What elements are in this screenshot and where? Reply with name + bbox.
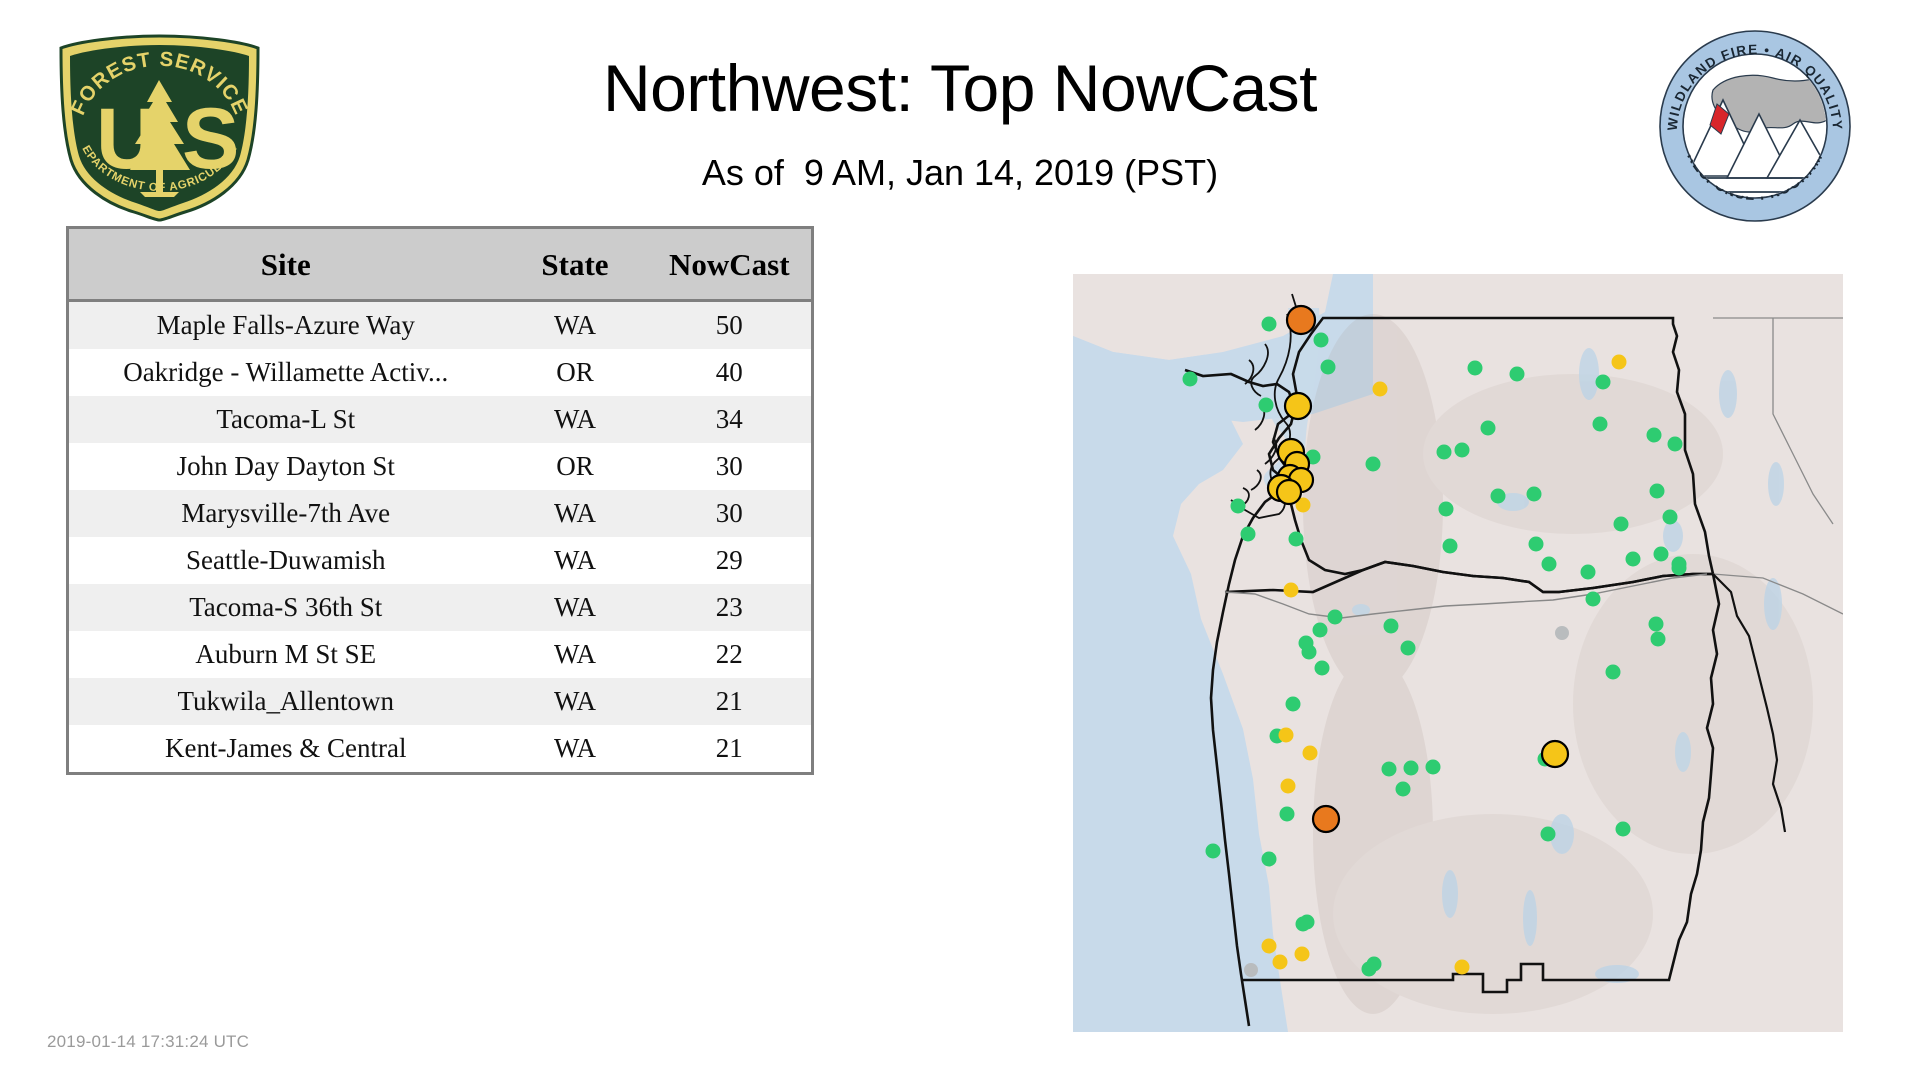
top-site-marker[interactable]: Oakridge - Willamette Activ... — 40 xyxy=(1313,806,1339,832)
monitor-marker-good[interactable] xyxy=(1593,417,1608,432)
monitor-marker-good[interactable] xyxy=(1315,661,1330,676)
monitor-marker-good[interactable] xyxy=(1541,827,1556,842)
monitor-marker-good[interactable] xyxy=(1481,421,1496,436)
top-site-marker[interactable]: Marysville-7th Ave — 30 xyxy=(1285,393,1311,419)
monitor-marker-good[interactable] xyxy=(1468,361,1483,376)
cell-nowcast: 23 xyxy=(648,584,813,631)
top-site-marker[interactable]: Tacoma-S 36th St — 23 xyxy=(1277,480,1301,504)
monitor-marker-moderate[interactable] xyxy=(1284,583,1299,598)
map-svg[interactable]: Maple Falls-Azure Way — 50Marysville-7th… xyxy=(1073,274,1843,1032)
table-body: Maple Falls-Azure WayWA50Oakridge - Will… xyxy=(68,301,813,774)
monitor-marker-moderate[interactable] xyxy=(1295,947,1310,962)
monitor-marker-moderate[interactable] xyxy=(1262,939,1277,954)
monitor-marker-good[interactable] xyxy=(1362,962,1377,977)
monitor-marker-good[interactable] xyxy=(1672,557,1687,572)
monitor-marker-good[interactable] xyxy=(1299,636,1314,651)
cell-nowcast: 29 xyxy=(648,537,813,584)
table-row: Tacoma-S 36th StWA23 xyxy=(68,584,813,631)
monitor-marker-good[interactable] xyxy=(1382,762,1397,777)
cell-state: WA xyxy=(503,537,648,584)
cell-state: WA xyxy=(503,584,648,631)
nowcast-table: Site State NowCast Maple Falls-Azure Way… xyxy=(66,226,814,775)
cell-state: OR xyxy=(503,443,648,490)
table-row: Maple Falls-Azure WayWA50 xyxy=(68,301,813,350)
cell-nowcast: 21 xyxy=(648,725,813,774)
table-row: John Day Dayton StOR30 xyxy=(68,443,813,490)
cell-site: Oakridge - Willamette Activ... xyxy=(68,349,503,396)
table-row: Oakridge - Willamette Activ...OR40 xyxy=(68,349,813,396)
monitor-marker-moderate[interactable] xyxy=(1279,728,1294,743)
top-site-marker[interactable]: Maple Falls-Azure Way — 50 xyxy=(1287,306,1315,334)
monitor-marker-good[interactable] xyxy=(1296,917,1311,932)
generated-timestamp: 2019-01-14 17:31:24 UTC xyxy=(47,1032,249,1052)
monitor-marker-good[interactable] xyxy=(1491,489,1506,504)
table-row: Kent-James & CentralWA21 xyxy=(68,725,813,774)
table-row: Tacoma-L StWA34 xyxy=(68,396,813,443)
monitor-marker-good[interactable] xyxy=(1647,428,1662,443)
monitor-marker-good[interactable] xyxy=(1663,510,1678,525)
cell-site: Maple Falls-Azure Way xyxy=(68,301,503,350)
table-header-row: Site State NowCast xyxy=(68,228,813,301)
monitor-marker-moderate[interactable] xyxy=(1373,382,1388,397)
monitor-marker-good[interactable] xyxy=(1439,502,1454,517)
monitor-marker-good[interactable] xyxy=(1404,761,1419,776)
monitor-marker-nodata[interactable] xyxy=(1244,963,1258,977)
monitor-marker-good[interactable] xyxy=(1542,557,1557,572)
cell-state: WA xyxy=(503,631,648,678)
monitor-marker-moderate[interactable] xyxy=(1303,746,1318,761)
monitor-marker-good[interactable] xyxy=(1606,665,1621,680)
cell-state: WA xyxy=(503,490,648,537)
monitor-marker-nodata[interactable] xyxy=(1555,626,1569,640)
monitor-marker-good[interactable] xyxy=(1366,457,1381,472)
monitor-marker-good[interactable] xyxy=(1183,372,1198,387)
column-header-nowcast: NowCast xyxy=(648,228,813,301)
monitor-marker-good[interactable] xyxy=(1289,532,1304,547)
table-row: Tukwila_AllentownWA21 xyxy=(68,678,813,725)
cell-state: WA xyxy=(503,396,648,443)
monitor-marker-good[interactable] xyxy=(1314,333,1329,348)
table-row: Auburn M St SEWA22 xyxy=(68,631,813,678)
monitor-marker-good[interactable] xyxy=(1259,398,1274,413)
monitor-marker-good[interactable] xyxy=(1586,592,1601,607)
monitor-marker-good[interactable] xyxy=(1280,807,1295,822)
monitor-marker-good[interactable] xyxy=(1649,617,1664,632)
monitor-marker-good[interactable] xyxy=(1614,517,1629,532)
page-header: FOREST SERVICE DEPARTMENT OF AGRICULTURE… xyxy=(0,0,1920,215)
monitor-marker-good[interactable] xyxy=(1654,547,1669,562)
top-site-marker[interactable]: John Day Dayton St — 30 xyxy=(1542,741,1568,767)
monitor-marker-good[interactable] xyxy=(1510,367,1525,382)
cell-nowcast: 21 xyxy=(648,678,813,725)
monitor-marker-moderate[interactable] xyxy=(1612,355,1627,370)
cell-state: OR xyxy=(503,349,648,396)
monitor-marker-good[interactable] xyxy=(1262,852,1277,867)
cell-nowcast: 30 xyxy=(648,443,813,490)
cell-site: Tacoma-L St xyxy=(68,396,503,443)
cell-nowcast: 22 xyxy=(648,631,813,678)
cell-site: Seattle-Duwamish xyxy=(68,537,503,584)
map-panel[interactable]: Maple Falls-Azure Way — 50Marysville-7th… xyxy=(1073,274,1843,1032)
monitor-marker-good[interactable] xyxy=(1651,632,1666,647)
cell-nowcast: 34 xyxy=(648,396,813,443)
monitor-marker-good[interactable] xyxy=(1206,844,1221,859)
nowcast-table-container: Site State NowCast Maple Falls-Azure Way… xyxy=(66,226,811,553)
monitor-marker-good[interactable] xyxy=(1396,782,1411,797)
monitor-marker-good[interactable] xyxy=(1596,375,1611,390)
cell-site: Marysville-7th Ave xyxy=(68,490,503,537)
monitor-marker-moderate[interactable] xyxy=(1281,779,1296,794)
monitor-marker-good[interactable] xyxy=(1616,822,1631,837)
cell-site: John Day Dayton St xyxy=(68,443,503,490)
table-row: Marysville-7th AveWA30 xyxy=(68,490,813,537)
monitor-marker-moderate[interactable] xyxy=(1273,955,1288,970)
cell-site: Auburn M St SE xyxy=(68,631,503,678)
monitor-marker-good[interactable] xyxy=(1401,641,1416,656)
monitor-marker-good[interactable] xyxy=(1455,443,1470,458)
monitor-marker-good[interactable] xyxy=(1581,565,1596,580)
page-title: Northwest: Top NowCast xyxy=(0,48,1920,128)
cell-state: WA xyxy=(503,301,648,350)
monitor-marker-good[interactable] xyxy=(1668,437,1683,452)
page-subtitle: As of 9 AM, Jan 14, 2019 (PST) xyxy=(0,150,1920,196)
monitor-marker-good[interactable] xyxy=(1426,760,1441,775)
cell-state: WA xyxy=(503,725,648,774)
monitor-marker-good[interactable] xyxy=(1286,697,1301,712)
monitor-marker-good[interactable] xyxy=(1626,552,1641,567)
cell-site: Kent-James & Central xyxy=(68,725,503,774)
monitor-marker-good[interactable] xyxy=(1437,445,1452,460)
table-row: Seattle-DuwamishWA29 xyxy=(68,537,813,584)
cell-nowcast: 40 xyxy=(648,349,813,396)
cell-site: Tacoma-S 36th St xyxy=(68,584,503,631)
monitor-marker-good[interactable] xyxy=(1384,619,1399,634)
monitor-marker-good[interactable] xyxy=(1527,487,1542,502)
cell-nowcast: 50 xyxy=(648,301,813,350)
monitor-marker-good[interactable] xyxy=(1231,499,1246,514)
column-header-site: Site xyxy=(68,228,503,301)
monitor-marker-good[interactable] xyxy=(1443,539,1458,554)
cell-state: WA xyxy=(503,678,648,725)
monitor-marker-good[interactable] xyxy=(1241,527,1256,542)
monitor-marker-good[interactable] xyxy=(1650,484,1665,499)
monitor-marker-good[interactable] xyxy=(1529,537,1544,552)
cell-site: Tukwila_Allentown xyxy=(68,678,503,725)
monitor-marker-good[interactable] xyxy=(1262,317,1277,332)
monitor-marker-good[interactable] xyxy=(1321,360,1336,375)
monitor-marker-good[interactable] xyxy=(1313,623,1328,638)
monitor-marker-good[interactable] xyxy=(1328,610,1343,625)
monitor-marker-moderate[interactable] xyxy=(1455,960,1470,975)
cell-nowcast: 30 xyxy=(648,490,813,537)
column-header-state: State xyxy=(503,228,648,301)
